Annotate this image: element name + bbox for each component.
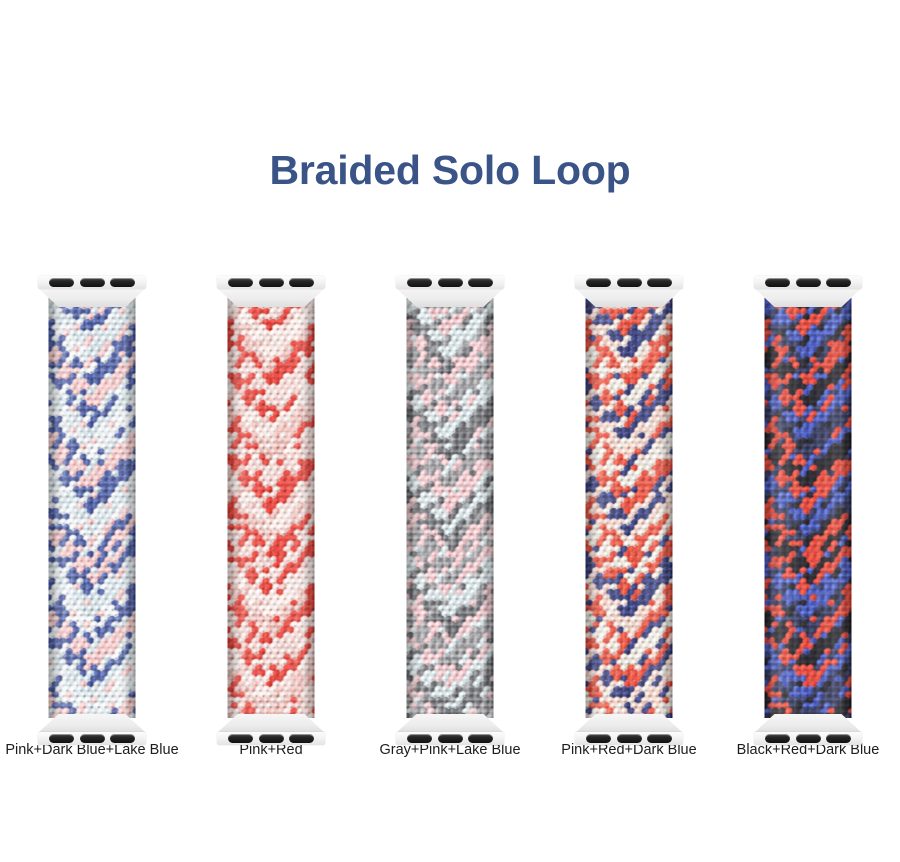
strap-weave-canvas xyxy=(586,298,673,718)
lug-slot-icon xyxy=(407,734,432,743)
lug-slot-icon xyxy=(259,278,284,287)
watch-band-figure: Pink+Red+Dark Blue xyxy=(543,270,715,732)
lug-slots-bottom xyxy=(765,734,851,743)
lug-connector-top xyxy=(217,276,325,306)
lug-slot-icon xyxy=(80,278,105,287)
lug-connector-top xyxy=(575,276,683,306)
lug-slot-icon xyxy=(49,734,74,743)
lug-connector-bottom xyxy=(754,715,862,745)
watch-band-figure: Black+Red+Dark Blue xyxy=(722,270,894,732)
lug-slots-bottom xyxy=(586,734,672,743)
lug-connector-bottom xyxy=(575,715,683,745)
strap-weave-canvas xyxy=(49,298,136,718)
watch-band-figure: Pink+Red xyxy=(185,270,357,732)
lug-slots-top xyxy=(407,278,493,287)
lug-slots-bottom xyxy=(49,734,135,743)
lug-taper-bottom xyxy=(217,714,325,733)
lug-slot-icon xyxy=(468,278,493,287)
lug-taper-bottom xyxy=(396,714,504,733)
lug-taper-bottom xyxy=(575,714,683,733)
lug-slots-bottom xyxy=(228,734,314,743)
lug-slot-icon xyxy=(228,278,253,287)
lug-taper-top xyxy=(217,288,325,307)
braided-strap xyxy=(586,298,673,718)
lug-slot-icon xyxy=(289,278,314,287)
lug-slot-icon xyxy=(586,278,611,287)
lug-slot-icon xyxy=(765,734,790,743)
lug-taper-top xyxy=(754,288,862,307)
lug-slot-icon xyxy=(407,278,432,287)
lug-slot-icon xyxy=(647,734,672,743)
lug-connector-top xyxy=(38,276,146,306)
lug-slots-top xyxy=(765,278,851,287)
lug-taper-top xyxy=(575,288,683,307)
lug-connector-bottom xyxy=(217,715,325,745)
watch-band-figure: Gray+Pink+Lake Blue xyxy=(364,270,536,732)
lug-slot-icon xyxy=(49,278,74,287)
lug-slot-icon xyxy=(796,734,821,743)
lug-connector-top xyxy=(396,276,504,306)
lug-taper-bottom xyxy=(38,714,146,733)
product-card[interactable]: Black+Red+Dark Blue xyxy=(722,270,894,732)
lug-slot-icon xyxy=(617,734,642,743)
lug-slot-icon xyxy=(765,278,790,287)
lug-connector-bottom xyxy=(396,715,504,745)
lug-slot-icon xyxy=(826,278,851,287)
product-card[interactable]: Gray+Pink+Lake Blue xyxy=(364,270,536,732)
lug-slot-icon xyxy=(826,734,851,743)
lug-connector-top xyxy=(754,276,862,306)
lug-slot-icon xyxy=(80,734,105,743)
lug-slots-bottom xyxy=(407,734,493,743)
strap-weave-canvas xyxy=(228,298,315,718)
lug-taper-top xyxy=(38,288,146,307)
lug-taper-bottom xyxy=(754,714,862,733)
braided-strap xyxy=(49,298,136,718)
product-row: Pink+Dark Blue+Lake Blue xyxy=(0,270,900,790)
product-card[interactable]: Pink+Dark Blue+Lake Blue xyxy=(6,270,178,732)
product-card[interactable]: Pink+Red+Dark Blue xyxy=(543,270,715,732)
braided-strap xyxy=(228,298,315,718)
lug-slot-icon xyxy=(110,278,135,287)
lug-slot-icon xyxy=(438,278,463,287)
watch-band-figure: Pink+Dark Blue+Lake Blue xyxy=(6,270,178,732)
lug-taper-top xyxy=(396,288,504,307)
lug-slot-icon xyxy=(259,734,284,743)
lug-slot-icon xyxy=(647,278,672,287)
lug-slot-icon xyxy=(468,734,493,743)
lug-slots-top xyxy=(228,278,314,287)
lug-slot-icon xyxy=(796,278,821,287)
braided-strap xyxy=(407,298,494,718)
lug-slot-icon xyxy=(289,734,314,743)
page-title: Braided Solo Loop xyxy=(0,150,900,191)
lug-slots-top xyxy=(586,278,672,287)
strap-weave-canvas xyxy=(407,298,494,718)
product-card[interactable]: Pink+Red xyxy=(185,270,357,732)
lug-connector-bottom xyxy=(38,715,146,745)
lug-slot-icon xyxy=(438,734,463,743)
lug-slot-icon xyxy=(110,734,135,743)
braided-strap xyxy=(765,298,852,718)
lug-slot-icon xyxy=(228,734,253,743)
lug-slots-top xyxy=(49,278,135,287)
lug-slot-icon xyxy=(617,278,642,287)
lug-slot-icon xyxy=(586,734,611,743)
strap-weave-canvas xyxy=(765,298,852,718)
